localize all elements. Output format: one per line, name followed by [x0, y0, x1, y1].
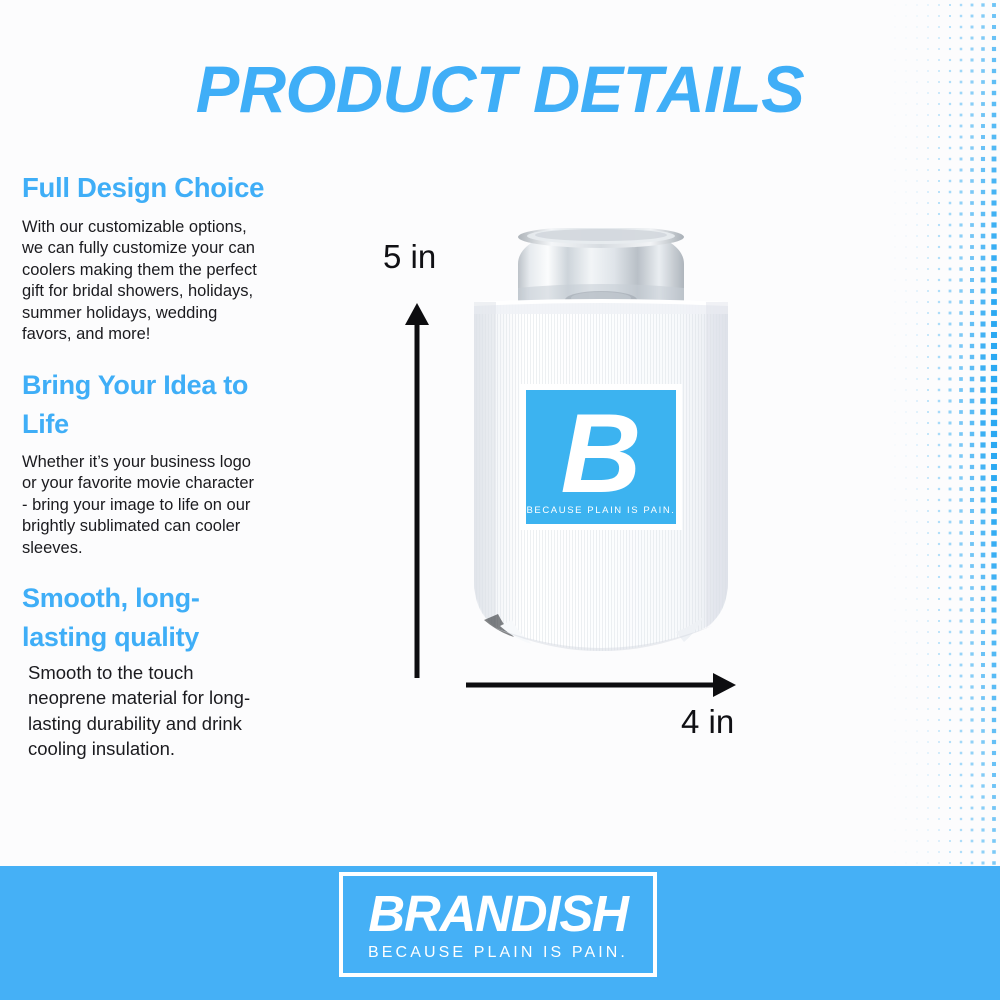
halftone-dots-svg — [868, 0, 1000, 866]
brand-tagline: BECAUSE PLAIN IS PAIN. — [368, 945, 628, 961]
feature-item-bring-idea-to-life: Bring Your Idea to Life Whether it’s you… — [22, 366, 274, 559]
feature-heading: Smooth, long-lasting quality — [22, 579, 250, 657]
infographic-page: PRODUCT DETAILS Full Design Choice With … — [0, 0, 1000, 1000]
can-cooler-photo: B BECAUSE PLAIN IS PAIN. — [470, 228, 732, 656]
feature-heading: Full Design Choice — [22, 168, 274, 208]
brand-logo-box: BRANDISH BECAUSE PLAIN IS PAIN. — [339, 872, 657, 977]
height-dimension-label: 5 in — [383, 240, 436, 273]
feature-body: Whether it’s your business logo or your … — [22, 452, 262, 559]
width-dimension-arrow — [462, 670, 742, 700]
feature-body: Smooth to the touch neoprene material fo… — [22, 660, 254, 761]
height-dimension-arrow — [404, 298, 430, 683]
halftone-dot-pattern — [868, 0, 1000, 866]
feature-item-design-choice: Full Design Choice With our customizable… — [22, 168, 274, 346]
page-title: PRODUCT DETAILS — [5, 56, 995, 122]
can-cooler-illustration: B BECAUSE PLAIN IS PAIN. — [470, 228, 732, 656]
width-dimension-label: 4 in — [681, 705, 734, 738]
logo-letter-b: B — [561, 391, 642, 516]
feature-heading: Bring Your Idea to Life — [22, 366, 262, 444]
feature-list: Full Design Choice With our customizable… — [22, 168, 274, 761]
product-image: B BECAUSE PLAIN IS PAIN. — [470, 228, 732, 656]
arrow-up-icon — [404, 298, 430, 683]
arrow-right-icon — [462, 670, 742, 700]
logo-tagline: BECAUSE PLAIN IS PAIN. — [526, 505, 675, 516]
feature-body: With our customizable options, we can fu… — [22, 217, 260, 346]
product-logo-block: B BECAUSE PLAIN IS PAIN. — [520, 384, 682, 530]
feature-item-smooth-quality: Smooth, long-lasting quality Smooth to t… — [22, 579, 274, 761]
brand-name: BRANDISH — [368, 888, 628, 939]
